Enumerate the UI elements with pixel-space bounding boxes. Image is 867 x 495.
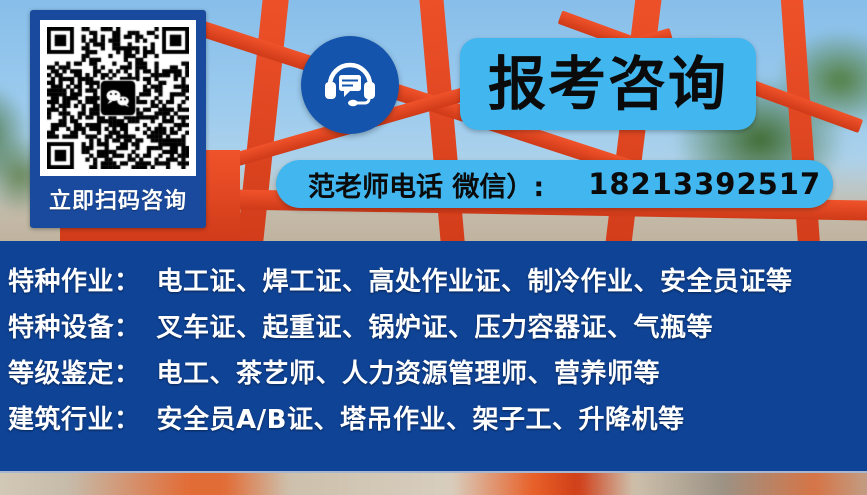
category-items: 电工、茶艺师、人力资源管理师、营养师等: [157, 353, 661, 390]
contact-phone-pill[interactable]: 范老师电话 微信）: 18213392517: [276, 160, 833, 208]
hero-banner: 立即扫码咨询 报考咨询 范老师电话 微信）: 18213392517: [0, 0, 867, 241]
category-row: 特种设备： 叉车证、起重证、锅炉证、压力容器证、气瓶等: [0, 307, 867, 353]
customer-service-badge[interactable]: [301, 36, 399, 134]
qr-code-area[interactable]: [40, 20, 196, 176]
category-row: 建筑行业： 安全员A/B证、塔吊作业、架子工、升降机等: [0, 399, 867, 445]
contact-label: 范老师电话 微信）:: [308, 165, 544, 204]
wechat-qr-card[interactable]: 立即扫码咨询: [30, 10, 206, 228]
contact-phone-number[interactable]: 18213392517: [588, 167, 821, 201]
qr-code-matrix: [47, 27, 189, 169]
category-label: 特种设备：: [8, 307, 141, 344]
category-items: 安全员A/B证、塔吊作业、架子工、升降机等: [157, 399, 685, 436]
category-items: 叉车证、起重证、锅炉证、压力容器证、气瓶等: [157, 307, 714, 344]
qr-card-label: 立即扫码咨询: [33, 181, 203, 223]
category-label: 等级鉴定：: [8, 353, 141, 390]
bottom-photo-strip: [0, 471, 867, 495]
qr-canvas: [47, 27, 189, 169]
category-row: 等级鉴定： 电工、茶艺师、人力资源管理师、营养师等: [0, 353, 867, 399]
category-label: 特种作业：: [8, 261, 141, 298]
category-row: 特种作业： 电工证、焊工证、高处作业证、制冷作业、安全员证等: [0, 261, 867, 307]
headset-chat-icon: [320, 55, 380, 115]
consult-title-pill[interactable]: 报考咨询: [460, 38, 756, 130]
category-label: 建筑行业：: [8, 399, 141, 436]
certificate-categories-panel: 特种作业： 电工证、焊工证、高处作业证、制冷作业、安全员证等 特种设备： 叉车证…: [0, 241, 867, 471]
consult-title-text: 报考咨询: [488, 55, 728, 113]
category-items: 电工证、焊工证、高处作业证、制冷作业、安全员证等: [157, 261, 793, 298]
promo-poster: 立即扫码咨询 报考咨询 范老师电话 微信）: 18213392517: [0, 0, 867, 495]
machinery-photo: [0, 471, 867, 495]
